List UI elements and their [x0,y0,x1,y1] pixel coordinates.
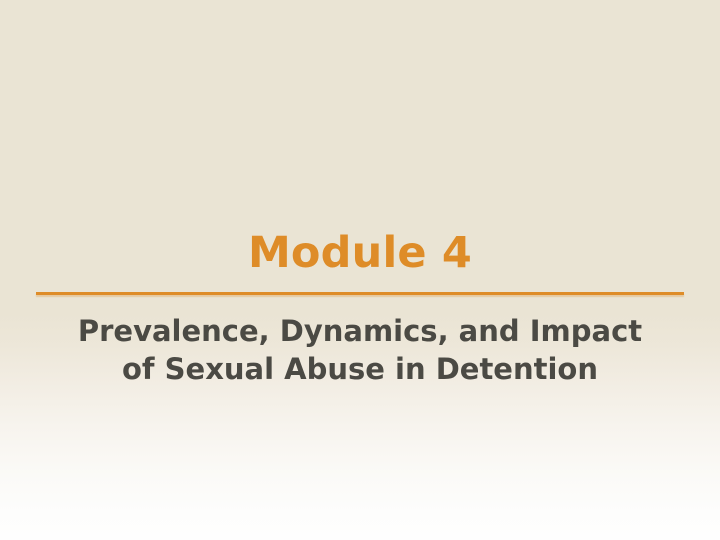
title-divider [36,292,684,295]
page-title: Module 4 [36,228,684,278]
subtitle-block: Prevalence, Dynamics, and Impact of Sexu… [24,312,696,388]
subtitle-line-1: Prevalence, Dynamics, and Impact [24,312,696,350]
subtitle-line-2: of Sexual Abuse in Detention [24,350,696,388]
presentation-slide: Module 4 Prevalence, Dynamics, and Impac… [0,0,720,540]
title-block: Module 4 [36,228,684,295]
